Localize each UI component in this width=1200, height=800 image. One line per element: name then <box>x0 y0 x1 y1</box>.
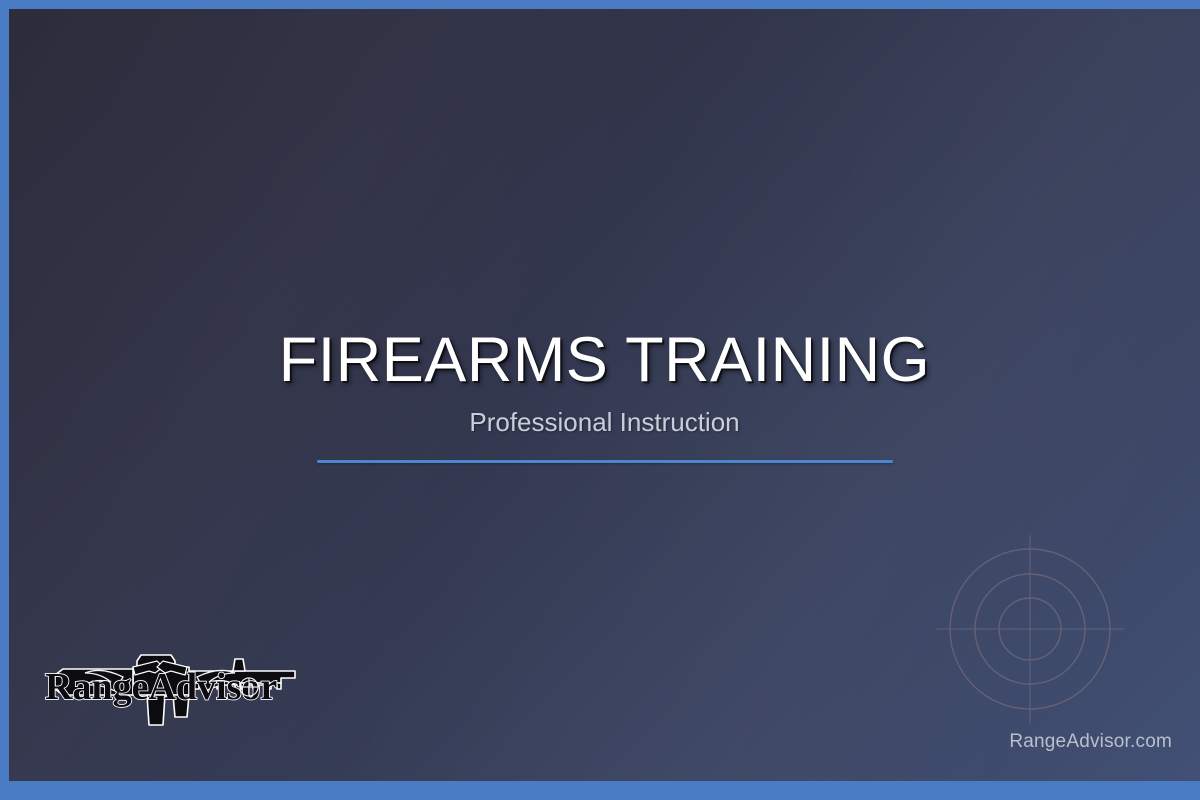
slide-canvas: FIREARMS TRAINING Professional Instructi… <box>9 9 1200 781</box>
rangeadvisor-rifle-logo-icon: RangeAdvisor <box>37 637 309 729</box>
footer-url: RangeAdvisor.com <box>1009 731 1172 753</box>
target-crosshair-icon <box>930 529 1130 729</box>
accent-divider <box>317 460 893 463</box>
presentation-slide: FIREARMS TRAINING Professional Instructi… <box>0 0 1200 800</box>
page-subtitle: Professional Instruction <box>9 407 1200 438</box>
page-title: FIREARMS TRAINING <box>9 327 1200 393</box>
title-block: FIREARMS TRAINING Professional Instructi… <box>9 327 1200 463</box>
